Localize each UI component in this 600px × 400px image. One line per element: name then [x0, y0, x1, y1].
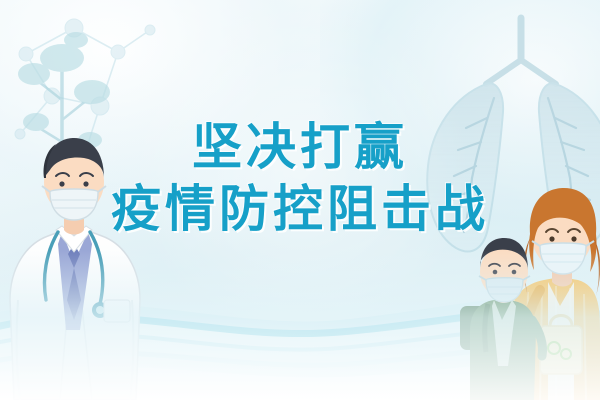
- poster-canvas: 坚决打赢 疫情防控阻击战: [0, 0, 600, 400]
- foreground-characters: [0, 0, 600, 400]
- doctor-figure: [10, 138, 140, 400]
- child-figure: [460, 238, 543, 400]
